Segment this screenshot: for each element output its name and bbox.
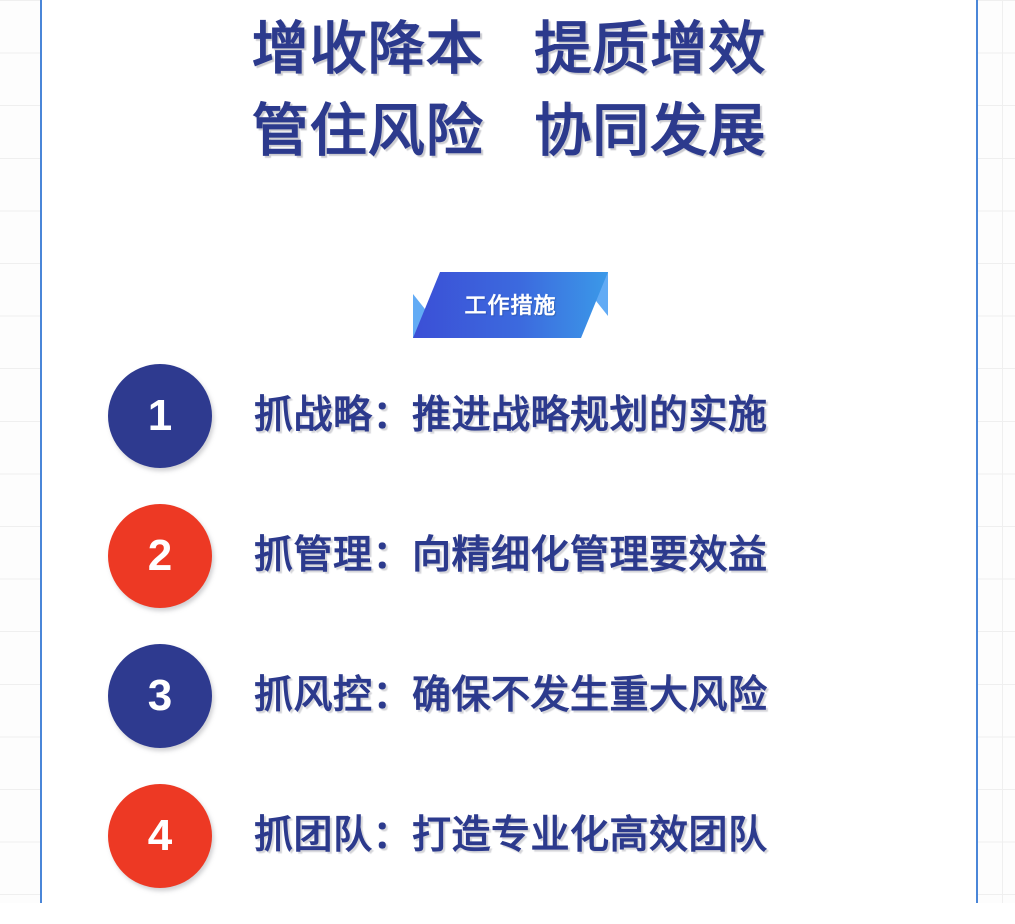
measure-number-badge-1: 1 xyxy=(108,364,212,468)
measure-label-3: 抓风控：确保不发生重大风险 xyxy=(254,664,768,720)
measure-number-2: 2 xyxy=(148,531,172,581)
list-item[interactable]: 4 抓团队：打造专业化高效团队 xyxy=(108,784,908,924)
list-item[interactable]: 3 抓风控：确保不发生重大风险 xyxy=(108,644,908,784)
spreadsheet-grid-columns-right xyxy=(978,0,1015,903)
list-item[interactable]: 2 抓管理：向精细化管理要效益 xyxy=(108,504,908,644)
measure-number-badge-4: 4 xyxy=(108,784,212,888)
measure-label-4: 抓团队：打造专业化高效团队 xyxy=(254,804,768,860)
measure-number-badge-3: 3 xyxy=(108,644,212,748)
headline-line-2: 管住风险 协同发展 xyxy=(42,90,976,172)
measure-number-1: 1 xyxy=(148,391,172,441)
measure-number-3: 3 xyxy=(148,671,172,721)
measure-label-2: 抓管理：向精细化管理要效益 xyxy=(254,524,768,580)
headline-line-1: 增收降本 提质增效 xyxy=(42,8,976,90)
measure-number-badge-2: 2 xyxy=(108,504,212,608)
measure-number-4: 4 xyxy=(148,811,172,861)
slide-border-right xyxy=(976,0,978,903)
ribbon-shape-icon xyxy=(408,268,613,344)
work-measures-list: 1 抓战略：推进战略规划的实施 2 抓管理：向精细化管理要效益 3 抓风控：确保… xyxy=(108,364,908,924)
section-banner: 工作措施 xyxy=(408,268,613,344)
measure-label-1: 抓战略：推进战略规划的实施 xyxy=(254,384,768,440)
list-item[interactable]: 1 抓战略：推进战略规划的实施 xyxy=(108,364,908,504)
slide-headline: 增收降本 提质增效 管住风险 协同发展 xyxy=(42,8,976,172)
